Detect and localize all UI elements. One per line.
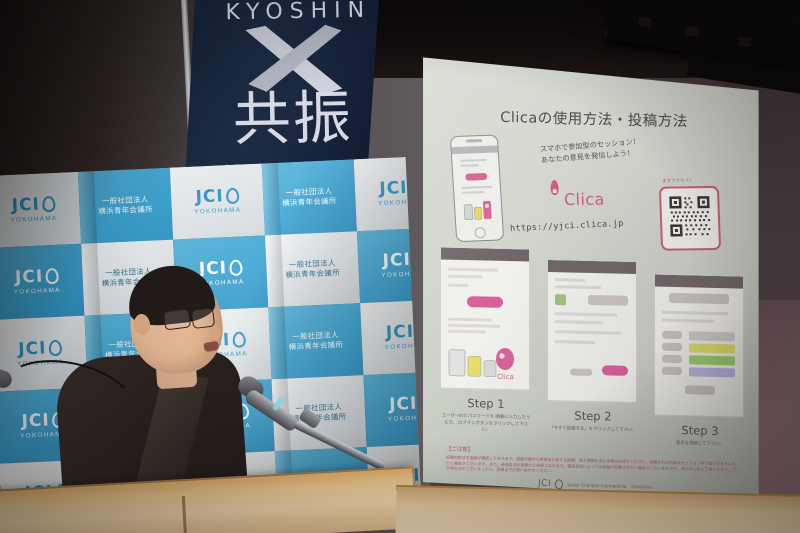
status-chip (555, 294, 566, 305)
phone-illustration (463, 198, 494, 223)
text-line (448, 330, 486, 334)
app-header-bar (548, 260, 636, 274)
footer-org-text: Junior Chamber International (567, 482, 626, 488)
step2-screenshot (547, 259, 637, 403)
slide-notice: 【ご注意】 投稿内容は主催者が確認しております。誹謗中傷や公序良俗に反する投稿、… (446, 445, 736, 479)
text-line (448, 318, 492, 322)
spotlight-icon (685, 26, 699, 37)
app-header-bar (655, 274, 743, 288)
slide-content: Clicaの使用方法・投稿方法 スマホで参加型のセッション！ あなたの意見を発信… (422, 52, 762, 508)
text-line (662, 319, 714, 323)
row-label (662, 367, 682, 375)
phone-home-button-icon (474, 227, 486, 238)
text-line (555, 278, 585, 282)
clica-logo: Clica (564, 190, 605, 209)
qr-code-icon (667, 194, 713, 239)
footer-city-text: Yokohama (630, 483, 652, 489)
phone-speaker-notch (466, 139, 482, 142)
banner-kanji: 共振 (212, 88, 373, 149)
bar-row (689, 367, 735, 377)
app-header-bar (441, 247, 529, 261)
step-label: Step 1 (440, 395, 532, 411)
qr-caption: まずアクセス！ (662, 178, 694, 185)
phone-text-line (461, 164, 479, 167)
bar-row (689, 355, 735, 365)
slide-title: Clicaの使用方法・投稿方法 (446, 105, 742, 133)
phone-mockup (450, 134, 504, 242)
glasses-lens (163, 308, 191, 330)
presentation-scene: Clicaの使用方法・投稿方法 スマホで参加型のセッション！ あなたの意見を発信… (0, 0, 800, 533)
login-button (467, 296, 503, 308)
phone-text-line (462, 191, 484, 194)
clica-drop-icon (550, 180, 559, 195)
svg-text:Clica: Clica (497, 373, 514, 381)
text-line (555, 330, 621, 335)
text-line (555, 312, 617, 316)
spotlight-icon (638, 16, 652, 27)
step-caption: 意見を投稿して下さい。 (654, 439, 746, 448)
text-line (448, 275, 482, 279)
row-label (662, 343, 682, 351)
row-label (662, 355, 682, 363)
projection-screen: Clicaの使用方法・投稿方法 スマホで参加型のセッション！ あなたの意見を発信… (422, 52, 762, 500)
step1-illustration: Clica (447, 340, 523, 384)
post-now-button (602, 365, 628, 376)
text-line (448, 284, 468, 287)
text-line (662, 311, 728, 316)
clica-url: https://yjci.clica.jp (510, 219, 624, 234)
secondary-button (570, 368, 592, 376)
submit-button (685, 385, 715, 395)
step-column: Clica Step 1 ユーザーIDとパスワードを 順番に入力したうえで、 ロ… (440, 246, 532, 434)
spotlight-icon (738, 36, 752, 47)
bar-row (689, 331, 735, 341)
action-field (588, 295, 628, 306)
step-column: Step 2 「今すぐ投稿する」をクリックして下さい。 (547, 259, 639, 434)
step1-screenshot: Clica (440, 246, 530, 390)
text-line (555, 320, 603, 324)
input-field (669, 293, 729, 304)
banner-headline: KYOSHIN (213, 0, 383, 26)
step-caption: ユーザーIDとパスワードを 順番に入力したうえで、 ログインボタンをクリックして… (440, 412, 532, 434)
qr-code-frame (659, 186, 721, 251)
phone-primary-button (465, 173, 487, 181)
bar-row (689, 343, 735, 353)
text-line (448, 324, 500, 328)
row-label (662, 331, 682, 339)
pin-icon (555, 479, 563, 489)
phone-app-header (451, 145, 497, 154)
phone-text-line (462, 186, 492, 189)
step-label: Step 3 (654, 422, 746, 438)
step-column: Step 3 意見を投稿して下さい。 (654, 273, 746, 448)
text-line (555, 340, 595, 344)
phone-text-line (460, 159, 486, 162)
step-caption: 「今すぐ投稿する」をクリックして下さい。 (547, 425, 639, 434)
slide-subtitle: スマホで参加型のセッション！ あなたの意見を発信しよう！ (539, 130, 710, 166)
step-label: Step 2 (547, 408, 639, 424)
step3-screenshot (654, 273, 744, 417)
steps-row: Clica Step 1 ユーザーIDとパスワードを 順番に入力したうえで、 ロ… (440, 238, 746, 445)
clica-wordmark: Clica (564, 190, 605, 209)
text-line (555, 285, 601, 289)
text-line (448, 268, 498, 272)
